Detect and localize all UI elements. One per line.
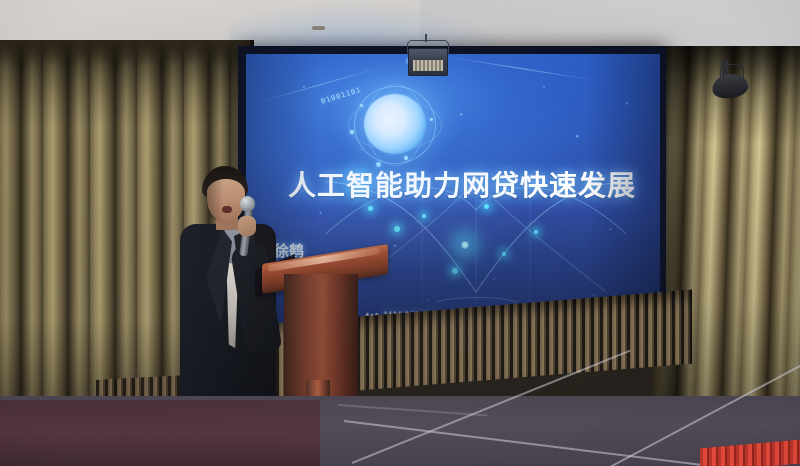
- network-node-dot: [368, 206, 373, 211]
- globe-node-dot: [430, 118, 433, 121]
- stage-floor-left-carpet: [0, 400, 320, 466]
- globe-node-dot: [404, 156, 408, 160]
- slide-title: 人工智能助力网贷快速发展: [288, 164, 660, 204]
- presenter-face-shadow: [207, 179, 223, 221]
- conference-stage-photo: 01001101 0101101: [0, 0, 800, 466]
- curtain-left-top-shadow: [0, 40, 250, 66]
- secondary-glow-node: [460, 240, 470, 250]
- network-node-dot: [422, 214, 426, 218]
- network-node-dot: [484, 204, 489, 209]
- network-node-dot: [534, 230, 538, 234]
- wall-spotlight-icon: [712, 58, 752, 102]
- globe-node-dot: [350, 130, 354, 134]
- presenter-hand: [238, 216, 256, 236]
- microphone-head-icon: [240, 196, 255, 212]
- network-node-dot: [452, 268, 458, 274]
- network-node-dot: [502, 252, 506, 256]
- globe-graphic: 01001101 0101101: [342, 74, 446, 174]
- ceiling-stage-light-icon: [404, 34, 450, 74]
- globe-node-dot: [360, 104, 363, 107]
- presenter-mouth: [222, 206, 232, 213]
- ceiling-sprinkler-icon: [312, 26, 325, 30]
- network-node-dot: [394, 226, 400, 232]
- light-lens: [413, 60, 443, 71]
- curtain-right: [662, 46, 800, 438]
